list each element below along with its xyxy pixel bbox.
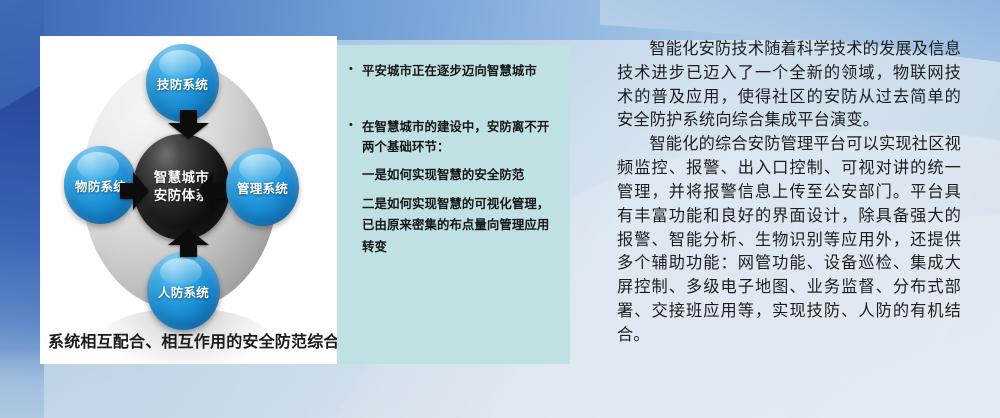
bullet-marker-icon: • — [347, 117, 362, 134]
node-label: 物防系统 — [75, 176, 126, 195]
node-label: 管理系统 — [237, 178, 288, 197]
bullet-sub-item-2: 二是如何实现智慧的可视化管理，已由原来密集的布点量向管理应用转变 — [362, 194, 558, 257]
arrow-right-icon — [120, 170, 150, 212]
node-label: 技防系统 — [157, 74, 208, 93]
slide-canvas: 智慧城市 安防体系 技防系统 物防系统 管理系统 人防系统 系统相互配合、相互作… — [0, 0, 1000, 418]
bullet-item-2: • 在智慧城市的建设中，安防离不开两个基础环节： — [347, 117, 558, 157]
diagram-card: 智慧城市 安防体系 技防系统 物防系统 管理系统 人防系统 系统相互配合、相互作… — [40, 36, 337, 364]
bullet-item-1: • 平安城市正在逐步迈向智慧城市 — [347, 61, 558, 81]
diagram-node-management-system[interactable]: 管理系统 — [226, 148, 299, 226]
bullet-marker-icon: • — [347, 61, 362, 78]
diagram-node-civil-defense[interactable]: 人防系统 — [147, 252, 220, 330]
background-left-bar-fade — [0, 348, 44, 418]
bullet-text: 平安城市正在逐步迈向智慧城市 — [362, 61, 558, 81]
arrow-down-icon — [166, 110, 211, 140]
bullet-panel: • 平安城市正在逐步迈向智慧城市 • 在智慧城市的建设中，安防离不开两个基础环节… — [337, 45, 570, 364]
bullet-sub-item-1: 一是如何实现智慧的安全防范 — [362, 165, 558, 186]
diagram-caption: 系统相互配合、相互作用的安全防范综合体 — [48, 328, 333, 352]
bullet-spacer — [347, 87, 558, 117]
body-paragraph-1: 智能化安防技术随着科学技术的发展及信息技术进步已迈入了一个全新的领域，物联网技术… — [617, 38, 961, 133]
bullet-text: 在智慧城市的建设中，安防离不开两个基础环节： — [362, 117, 558, 157]
arrow-left-icon — [197, 170, 227, 212]
body-copy: 智能化安防技术随着科学技术的发展及信息技术进步已迈入了一个全新的领域，物联网技术… — [617, 38, 961, 348]
arrow-up-icon — [166, 228, 211, 258]
body-paragraph-2: 智能化的综合安防管理平台可以实现社区视频监控、报警、出入口控制、可视对讲的统一管… — [617, 133, 961, 347]
security-system-diagram: 智慧城市 安防体系 技防系统 物防系统 管理系统 人防系统 — [40, 36, 337, 316]
node-label: 人防系统 — [158, 282, 209, 301]
